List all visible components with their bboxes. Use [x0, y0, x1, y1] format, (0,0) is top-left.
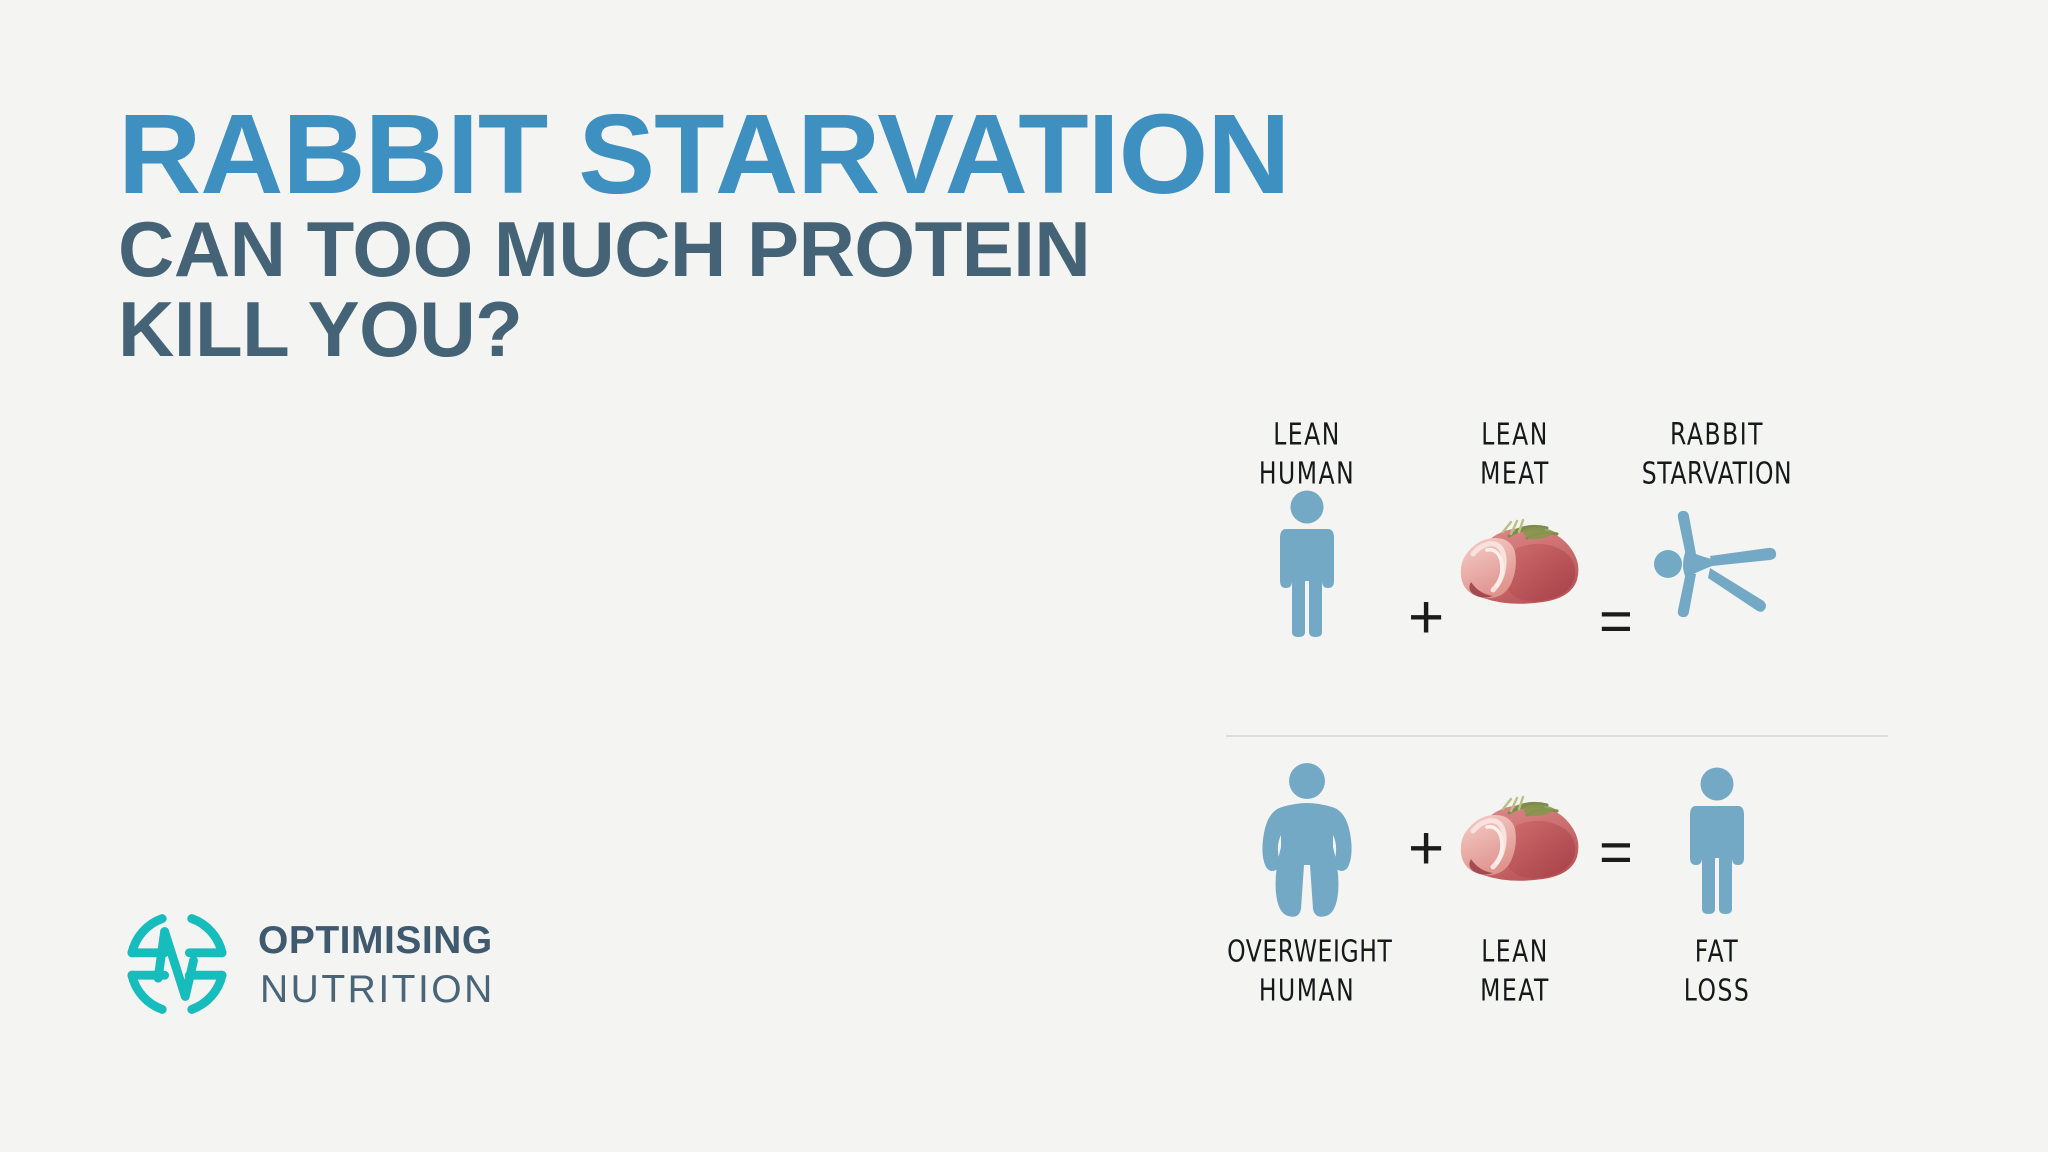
equation-row-fat-loss: OVERWEIGHT HUMAN + [1222, 756, 1892, 1071]
diagram-cell-lean-meat-top: LEAN MEAT [1430, 415, 1600, 649]
collapsed-person-icon [1632, 479, 1802, 649]
lean-person-icon [1632, 756, 1802, 926]
cell-label: LEAN MEAT [1435, 932, 1595, 1010]
overweight-person-icon [1222, 756, 1392, 926]
diagram-cell-rabbit-starvation: RABBIT STARVATION [1632, 415, 1802, 649]
cell-label: FAT LOSS [1637, 932, 1797, 1010]
page-title: RABBIT STARVATION [118, 100, 1322, 208]
diagram-cell-lean-meat-bottom: LEAN MEAT [1430, 756, 1600, 996]
cell-label: LEAN MEAT [1435, 415, 1595, 493]
row-divider [1226, 735, 1888, 737]
equation-diagram: LEAN HUMAN + LEAN MEAT [1222, 415, 1892, 1075]
equals-operator: = [1599, 593, 1633, 651]
diagram-cell-lean-human: LEAN HUMAN [1222, 415, 1392, 649]
logo-wordmark: OPTIMISING NUTRITION [258, 919, 495, 1009]
logo-line-2: NUTRITION [260, 970, 495, 1009]
cell-label: LEAN HUMAN [1227, 415, 1387, 493]
raw-meat-icon [1430, 756, 1600, 926]
pulse-circle-icon [118, 905, 236, 1023]
logo-line-1: OPTIMISING [258, 921, 495, 960]
raw-meat-icon [1430, 479, 1600, 649]
cell-label: OVERWEIGHT HUMAN [1227, 932, 1387, 1010]
cell-label: RABBIT STARVATION [1637, 415, 1797, 493]
diagram-cell-overweight-human: OVERWEIGHT HUMAN [1222, 756, 1392, 996]
page-subtitle: CAN TOO MUCH PROTEIN KILL YOU? [118, 210, 1298, 369]
slide-canvas: RABBIT STARVATION CAN TOO MUCH PROTEIN K… [0, 0, 2048, 1152]
subtitle-line-2: KILL YOU? [118, 290, 1298, 370]
equals-operator: = [1599, 824, 1633, 882]
title-block: RABBIT STARVATION CAN TOO MUCH PROTEIN K… [118, 100, 1298, 370]
diagram-cell-fat-loss: FAT LOSS [1632, 756, 1802, 996]
subtitle-line-1: CAN TOO MUCH PROTEIN [118, 210, 1298, 290]
equation-row-rabbit-starvation: LEAN HUMAN + LEAN MEAT [1222, 415, 1892, 730]
lean-person-icon [1222, 479, 1392, 649]
brand-logo[interactable]: OPTIMISING NUTRITION [118, 905, 495, 1023]
